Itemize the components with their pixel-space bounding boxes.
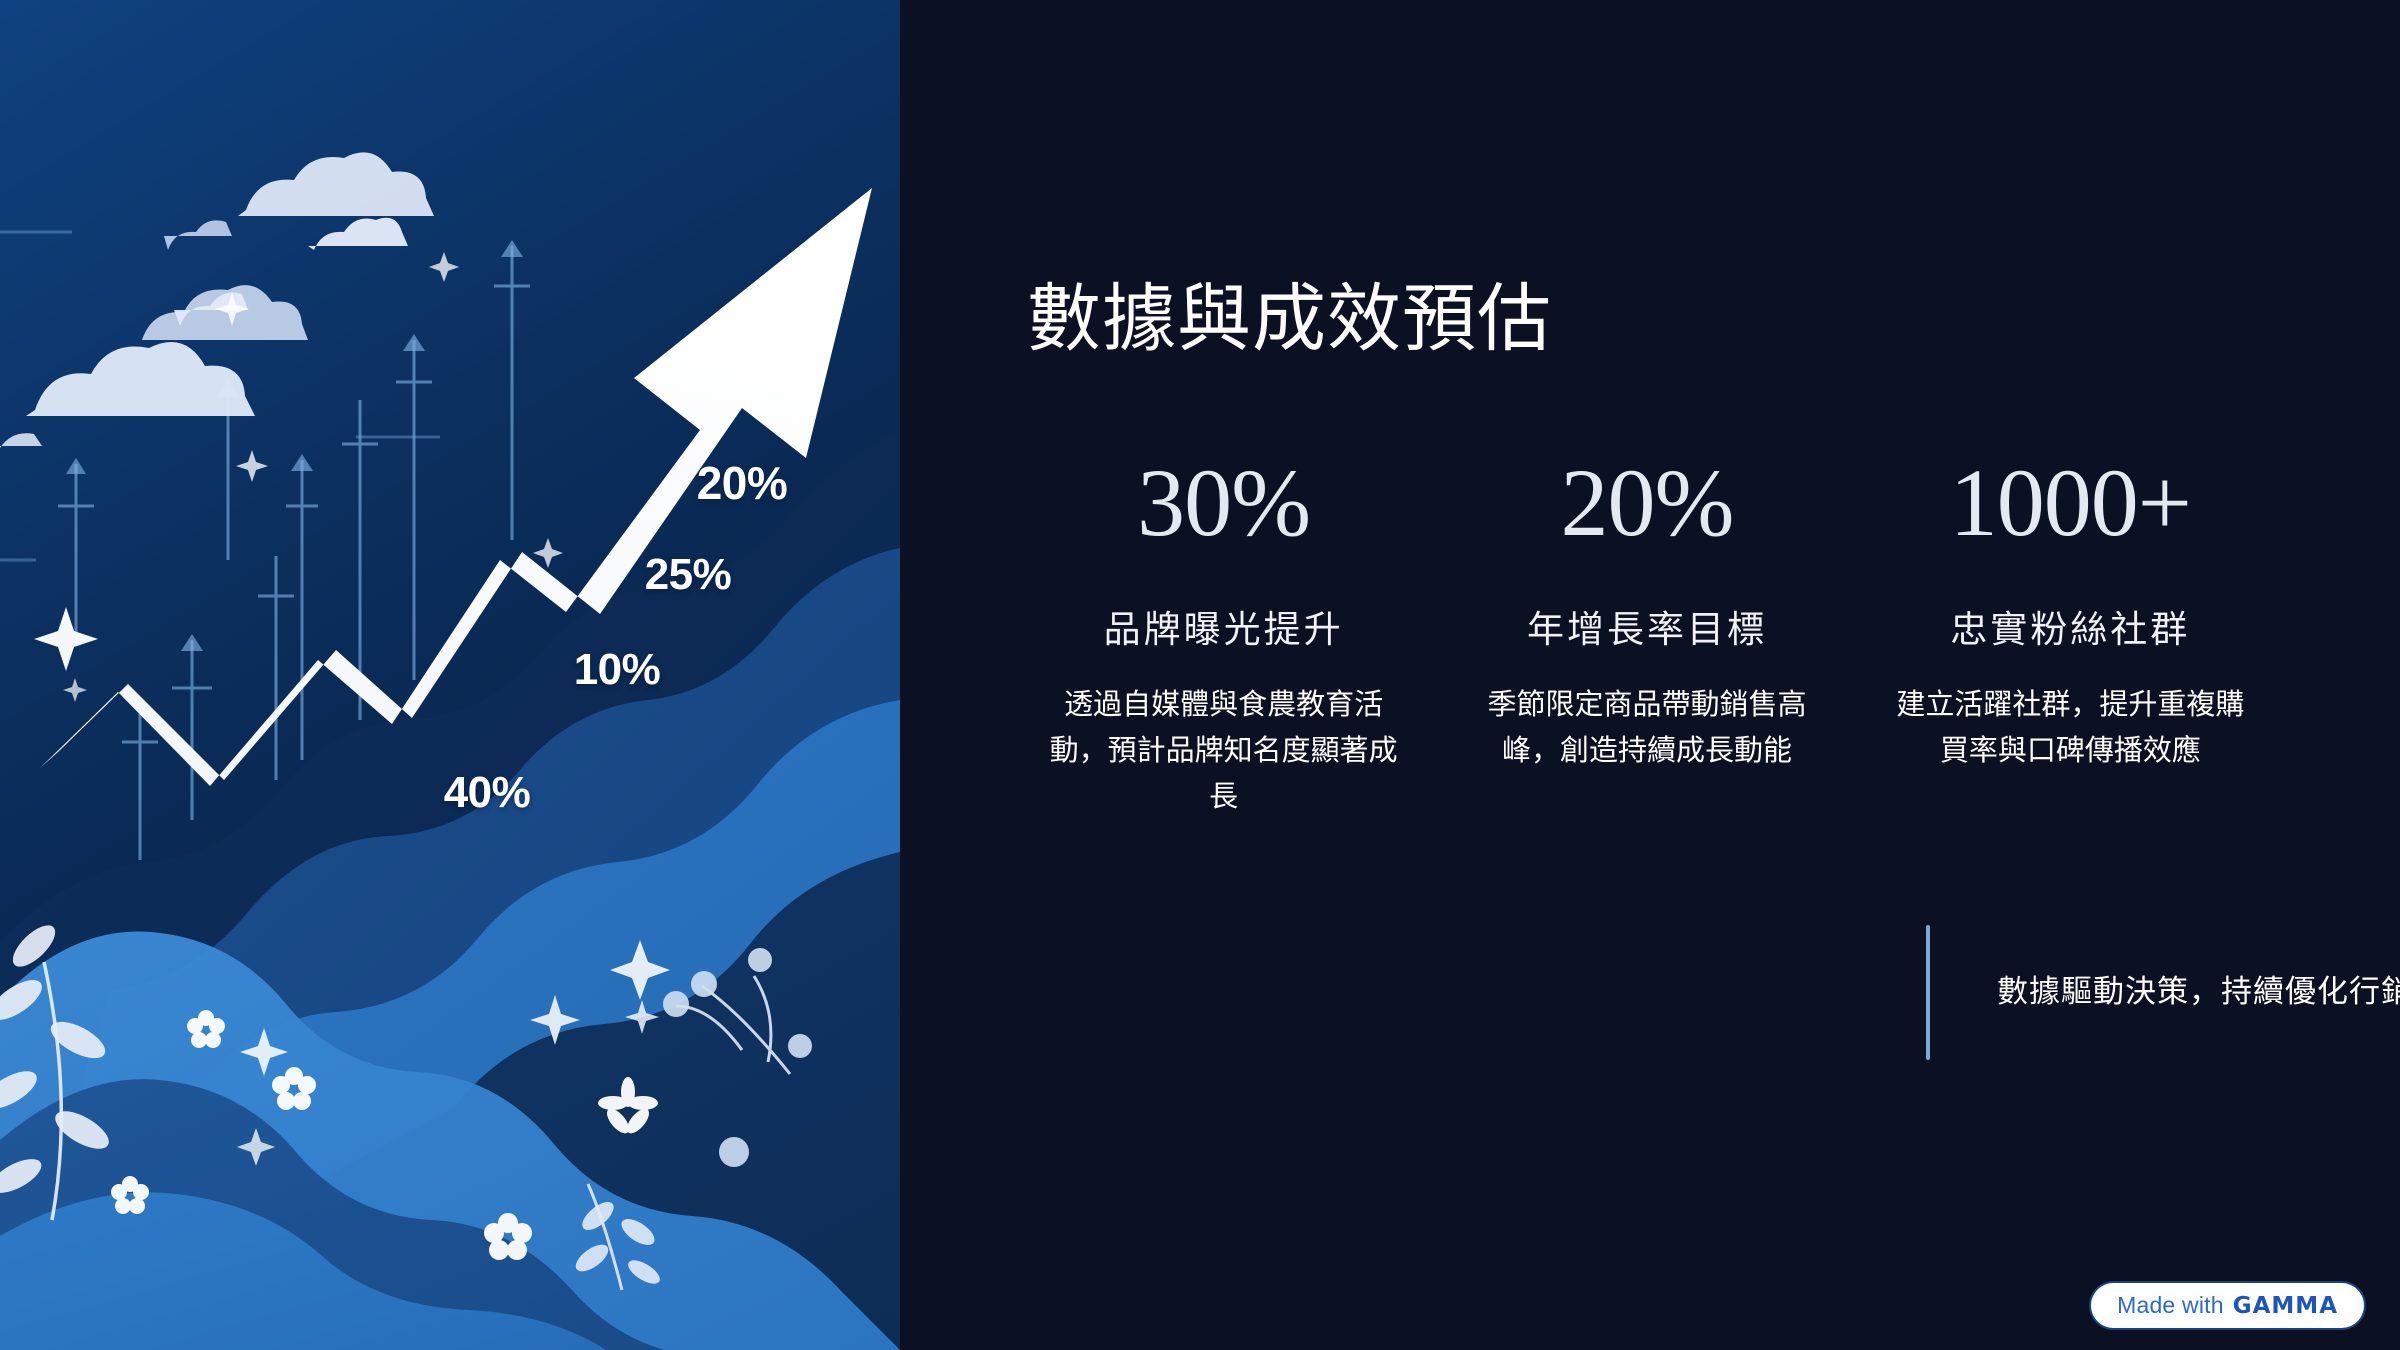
stat-card: 30% 品牌曝光提升 透過自媒體與食農教育活動，預計品牌知名度顯著成長 bbox=[1012, 455, 1435, 821]
stat-value: 30% bbox=[1030, 455, 1417, 551]
stat-value: 1000+ bbox=[1877, 455, 2264, 551]
stat-label: 忠實粉絲社群 bbox=[1877, 607, 2264, 653]
stat-label: 品牌曝光提升 bbox=[1030, 607, 1417, 653]
quote-text: 數據驅動決策，持續優化行銷策略，創造可持續的品牌成長 bbox=[1997, 969, 2400, 1016]
stat-card: 1000+ 忠實粉絲社群 建立活躍社群，提升重複購買率與口碑傳播效應 bbox=[1859, 455, 2282, 821]
stat-label: 年增長率目標 bbox=[1453, 607, 1840, 653]
stat-value: 20% bbox=[1453, 455, 1840, 551]
badge-made-with-label: Made with bbox=[2117, 1292, 2224, 1319]
illustration-svg bbox=[0, 0, 900, 1350]
callout-quote: 數據驅動決策，持續優化行銷策略，創造可持續的品牌成長 bbox=[1926, 925, 2400, 1060]
slide: 20% 25% 10% 40% 數據與成效預估 30% 品牌曝光提升 透過自媒體… bbox=[0, 0, 2400, 1350]
stat-description: 季節限定商品帶動銷售高峰，創造持續成長動能 bbox=[1453, 683, 1840, 775]
stat-description: 建立活躍社群，提升重複購買率與口碑傳播效應 bbox=[1877, 683, 2264, 775]
illustration-percent-label: 20% bbox=[697, 456, 788, 510]
illustration-percent-label: 40% bbox=[444, 768, 531, 818]
stat-card: 20% 年增長率目標 季節限定商品帶動銷售高峰，創造持續成長動能 bbox=[1435, 455, 1858, 821]
page-title: 數據與成效預估 bbox=[1027, 278, 1552, 359]
illustration-percent-label: 10% bbox=[574, 645, 661, 695]
illustration-percent-label: 25% bbox=[645, 550, 732, 600]
stat-description: 透過自媒體與食農教育活動，預計品牌知名度顯著成長 bbox=[1030, 683, 1417, 820]
growth-illustration: 20% 25% 10% 40% bbox=[0, 0, 900, 1350]
stats-row: 30% 品牌曝光提升 透過自媒體與食農教育活動，預計品牌知名度顯著成長 20% … bbox=[1012, 455, 2282, 821]
made-with-gamma-badge[interactable]: Made with GAMMA bbox=[2091, 1283, 2364, 1328]
quote-accent-bar bbox=[1926, 925, 1930, 1060]
content-panel: 數據與成效預估 30% 品牌曝光提升 透過自媒體與食農教育活動，預計品牌知名度顯… bbox=[900, 0, 2400, 1350]
badge-brand-label: GAMMA bbox=[2233, 1293, 2338, 1319]
